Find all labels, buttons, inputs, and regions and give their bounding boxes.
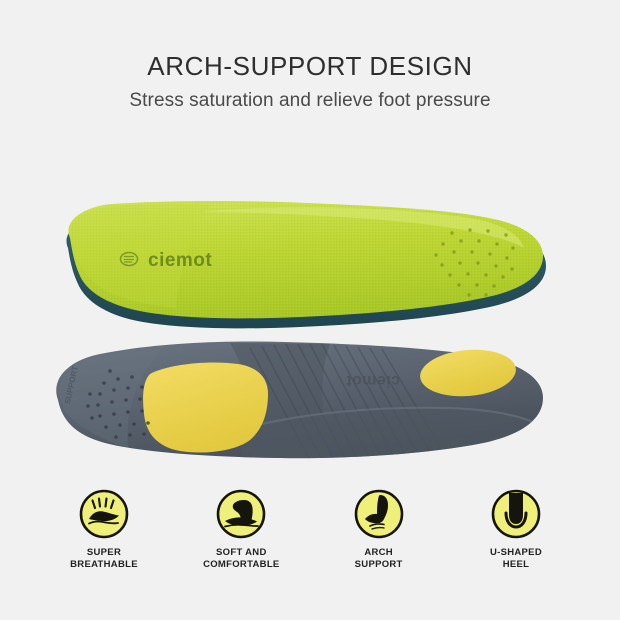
bottom-insole-brand-text: ciemot [346,372,400,389]
feature-item: SOFT AND COMFORTABLE [181,488,301,588]
u-shaped-heel-cup-icon [490,488,542,540]
feature-item: U-SHAPED HEEL [456,488,576,588]
header: ARCH-SUPPORT DESIGN Stress saturation an… [0,52,620,112]
page-subtitle: Stress saturation and relieve foot press… [0,90,620,112]
feature-item: ARCH SUPPORT [319,488,439,588]
feature-label: ARCH SUPPORT [355,547,403,571]
page-title: ARCH-SUPPORT DESIGN [0,52,620,81]
feature-label: SUPER BREATHABLE [70,547,138,571]
feature-label: SOFT AND COMFORTABLE [203,547,279,571]
arch-support-foot-icon [353,488,405,540]
breathable-foot-airflow-icon [78,488,130,540]
top-insole: ciemot [60,198,560,328]
top-insole-brand-text: ciemot [148,250,212,271]
feature-item: SUPER BREATHABLE [44,488,164,588]
feature-badges: SUPER BREATHABLE SOFT AND COMFORTABLE AR… [0,488,620,588]
bottom-insole: ciemot SUPPORT [56,342,543,463]
heel-gel-pad [143,362,268,452]
feature-label: U-SHAPED HEEL [490,547,542,571]
product-images: ciemot [0,178,620,468]
insoles-illustration: ciemot [0,178,620,468]
soft-foot-on-insole-icon [215,488,267,540]
product-marketing-image: ARCH-SUPPORT DESIGN Stress saturation an… [0,0,620,620]
